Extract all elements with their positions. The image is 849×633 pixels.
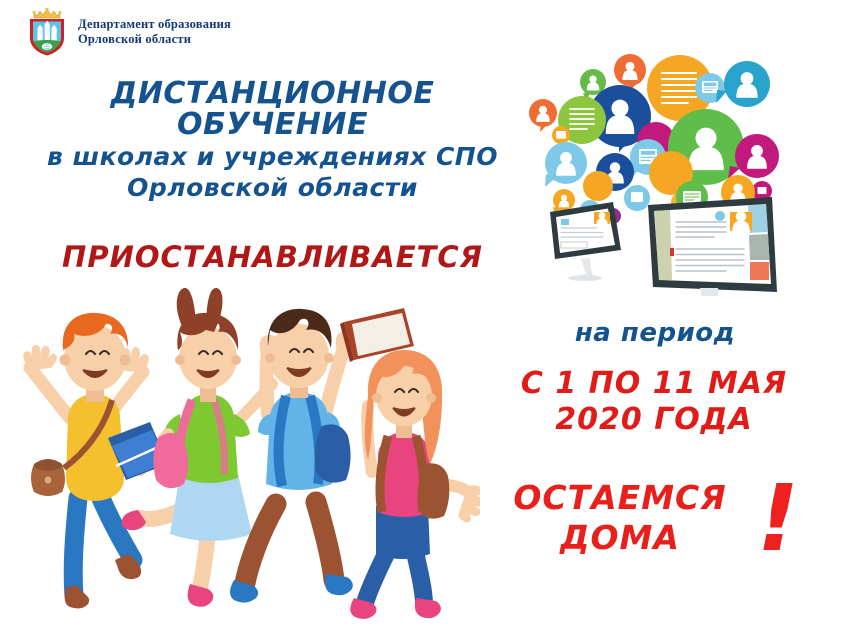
page-title: ДИСТАНЦИОННОЕ ОБУЧЕНИЕ в школах и учрежд…: [0, 78, 545, 203]
period-dates-line-1: С 1 ПО 11 МАЯ: [468, 366, 840, 402]
jumping-students-illustration: [0, 288, 480, 633]
header: Департамент образования Орловской област…: [26, 8, 231, 56]
bubble-orangered-left: [529, 99, 557, 132]
bubble-skyblue-left: [545, 142, 587, 187]
student-girl-red-hair: [350, 350, 480, 619]
poster-canvas: Департамент образования Орловской област…: [0, 0, 849, 633]
period-label: на период: [470, 318, 840, 348]
title-line-2: ОБУЧЕНИЕ: [0, 109, 545, 140]
title-line-1: ДИСТАНЦИОННОЕ: [0, 78, 545, 109]
monitor-small: [550, 202, 621, 281]
orel-oblast-coat-of-arms-icon: [26, 8, 68, 56]
department-line-2: Орловской области: [78, 32, 231, 47]
bubble-orange-plain-2: [583, 171, 613, 201]
title-line-4: Орловской области: [0, 173, 545, 204]
bubble-lightblue-doc: [695, 73, 725, 103]
period-dates: С 1 ПО 11 МАЯ 2020 ГОДА: [468, 366, 840, 438]
stay-home-line-2: ДОМА: [455, 518, 785, 558]
stay-home-line-1: ОСТАЕМСЯ: [455, 478, 785, 518]
bubble-teal-right: [716, 61, 770, 107]
exclamation-mark: !: [757, 473, 799, 565]
department-title: Департамент образования Орловской област…: [78, 17, 231, 47]
stay-home-callout: ОСТАЕМСЯ ДОМА: [455, 478, 785, 559]
online-communication-illustration: [520, 16, 849, 296]
bubble-lightblue-doc-3: [624, 185, 650, 211]
status-text: ПРИОСТАНАВЛИВАЕТСЯ: [0, 240, 545, 274]
period-dates-line-2: 2020 ГОДА: [468, 402, 840, 438]
department-line-1: Департамент образования: [78, 17, 231, 32]
bubble-orange-mini-doc: [552, 126, 570, 144]
title-line-3: в школах и учреждениях СПО: [0, 142, 545, 173]
monitor-large: [648, 197, 777, 296]
